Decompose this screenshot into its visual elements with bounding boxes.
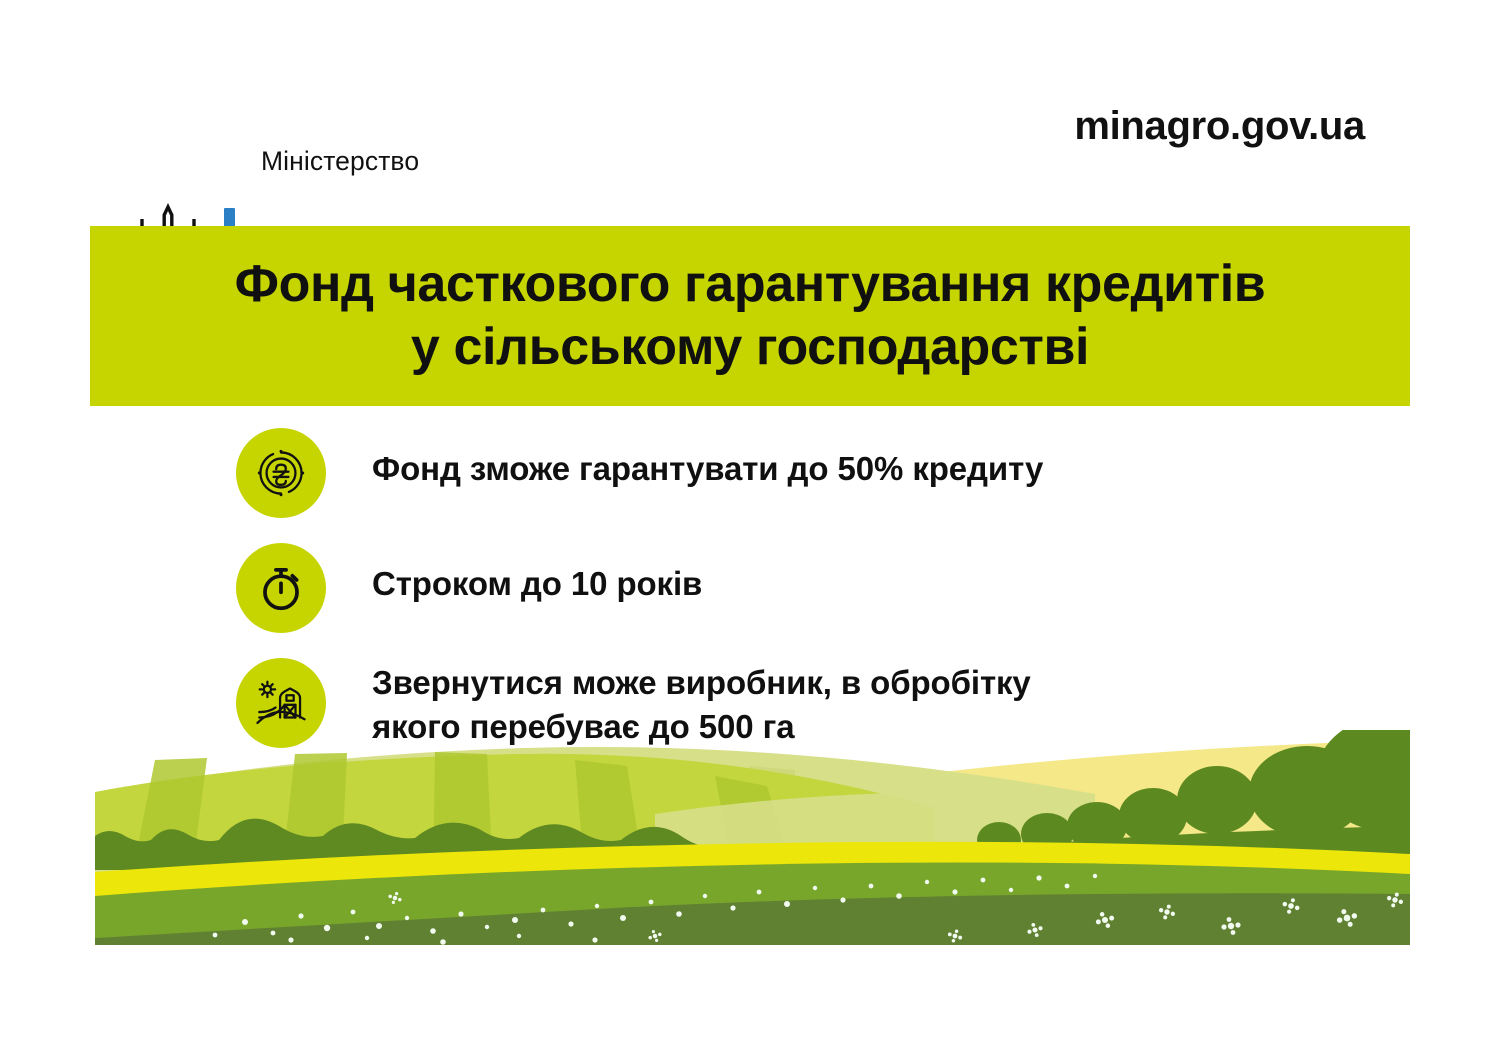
list-item-line: Фонд зможе гарантувати до 50% кредиту — [372, 447, 1043, 491]
list-item: Строком до 10 років — [236, 543, 1416, 633]
list-item-text: Строком до 10 років — [372, 543, 702, 606]
feature-list: Фонд зможе гарантувати до 50% кредиту Ст… — [236, 428, 1416, 774]
ministry-name-line-1: Міністерство — [261, 146, 549, 176]
title-line-2: у сільському господарстві — [411, 316, 1089, 379]
list-item: Фонд зможе гарантувати до 50% кредиту — [236, 428, 1416, 518]
rural-fields-illustration — [95, 730, 1410, 945]
page-header: Міністерство аграрної політики та продов… — [0, 0, 1500, 218]
website-url[interactable]: minagro.gov.ua — [1074, 104, 1365, 149]
title-line-1: Фонд часткового гарантування кредитів — [235, 253, 1266, 316]
title-banner: Фонд часткового гарантування кредитів у … — [90, 226, 1410, 406]
list-item-line: Звернутися може виробник, в обробітку — [372, 661, 1031, 705]
hryvnia-coin-icon — [236, 428, 326, 518]
list-item-line: Строком до 10 років — [372, 562, 702, 606]
stopwatch-icon — [236, 543, 326, 633]
list-item-text: Фонд зможе гарантувати до 50% кредиту — [372, 428, 1043, 491]
